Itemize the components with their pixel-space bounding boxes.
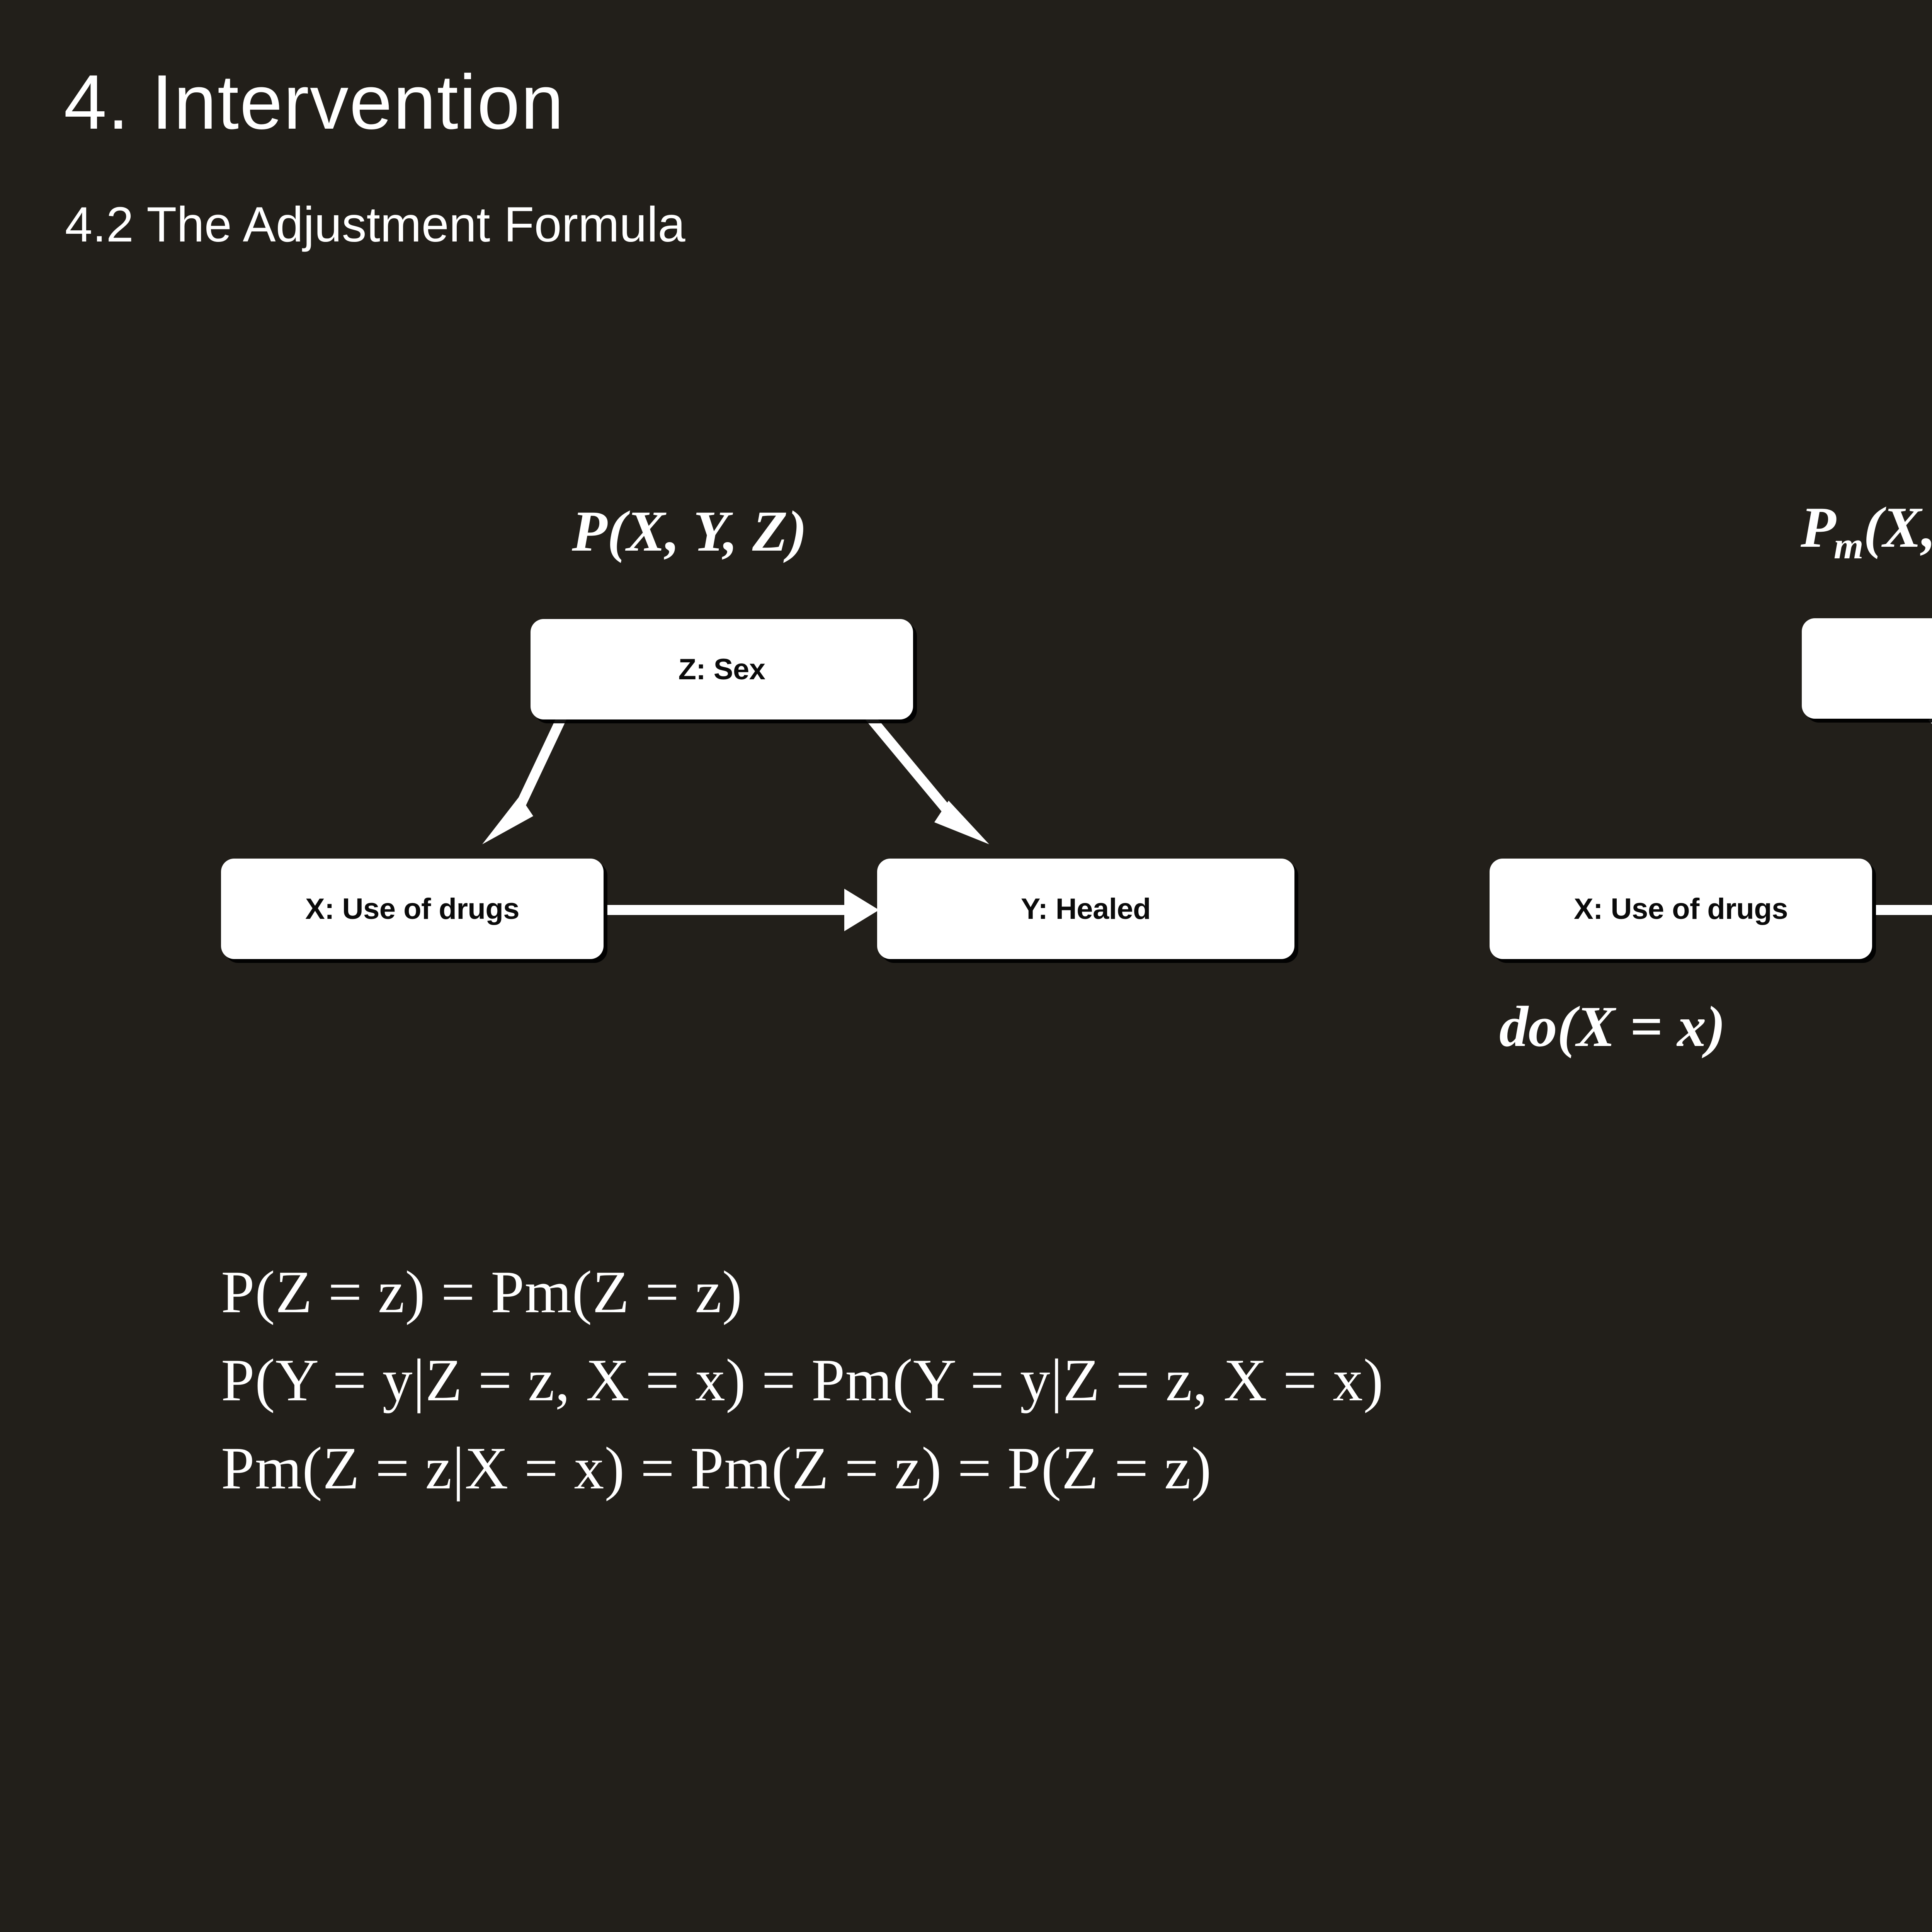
caption-main: P [1801, 495, 1836, 560]
edge-x-to-y [1876, 889, 1932, 931]
do-operator-label: do(X = x) [1499, 998, 1725, 1056]
node-y-healed-observational[interactable]: Y: Healed [877, 859, 1294, 959]
adjustment-formula-list: P(Z = z) = Pm(Z = z) P(Y = y|Z = z, X = … [221, 1248, 1384, 1512]
node-z-sex-interventional[interactable]: Z: Sex [1802, 618, 1932, 719]
node-x-use-of-drugs-interventional[interactable]: X: Use of drugs [1490, 859, 1872, 959]
node-label: Y: Healed [1021, 892, 1151, 926]
formula-3: Pm(Z = z|X = x) = Pm(Z = z) = P(Z = z) [221, 1424, 1384, 1512]
diagram-caption-observational: P(X, Y, Z) [572, 502, 807, 560]
caption-subscript: m [1834, 525, 1864, 567]
caption-args: (X, Y, Z) [607, 499, 807, 563]
edge-z-to-y [869, 717, 989, 844]
caption-args: (X, Y, Z) [1864, 495, 1932, 560]
node-z-sex-observational[interactable]: Z: Sex [531, 619, 913, 719]
do-operator-args: (X = x) [1557, 995, 1725, 1059]
node-label: Z: Sex [678, 653, 765, 686]
node-x-use-of-drugs-observational[interactable]: X: Use of drugs [221, 859, 604, 959]
caption-main: P [572, 499, 607, 563]
edge-z-to-x [482, 717, 562, 844]
causal-diagram-observational: P(X, Y, Z) Z: Sex X: Use of drugs Y: Hea… [0, 0, 1391, 1005]
causal-diagram-interventional: Pm(X, Y, Z) Z: Sex X: Use of drugs Y: He… [1391, 0, 1932, 1121]
edge-x-to-y [607, 889, 879, 931]
formula-1: P(Z = z) = Pm(Z = z) [221, 1248, 1384, 1336]
node-label: X: Use of drugs [1574, 892, 1788, 926]
formula-2: P(Y = y|Z = z, X = x) = Pm(Y = y|Z = z, … [221, 1336, 1384, 1424]
node-label: X: Use of drugs [305, 892, 519, 926]
do-operator-name: do [1499, 995, 1557, 1059]
diagram-caption-interventional: Pm(X, Y, Z) [1801, 498, 1932, 565]
